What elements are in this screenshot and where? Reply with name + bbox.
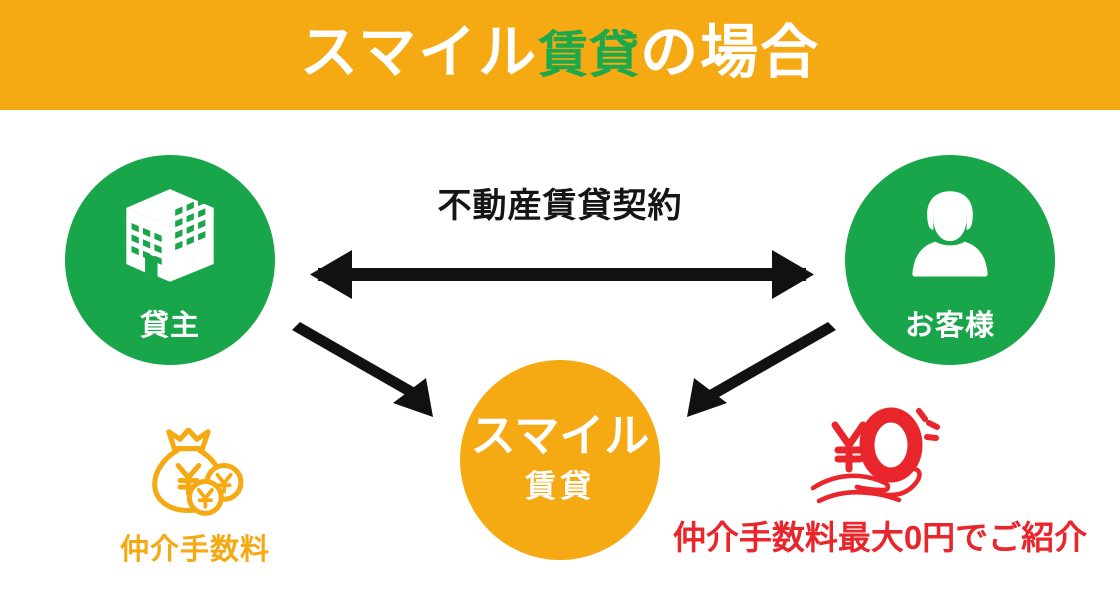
header-title-accent: 賃貸: [538, 27, 640, 83]
yen-symbol-icon: [835, 425, 863, 469]
header-title-lead: スマイル: [300, 20, 538, 85]
coin-icon: [189, 481, 221, 513]
zero-digit: [867, 415, 915, 475]
zero-fee-label: 仲介手数料最大0円でご紹介: [673, 521, 1087, 554]
infographic-canvas: スマイル賃貸の場合 不動産賃貸契約: [0, 0, 1120, 616]
brokerage-fee-block: 仲介手数料: [95, 428, 295, 565]
brand-name-secondary: 賃貸: [525, 471, 595, 502]
person-icon: [898, 185, 1002, 289]
landlord-to-brand-arrow: [292, 322, 433, 417]
contract-label: 不動産賃貸契約: [380, 189, 740, 223]
money-bag-yen-icon: [143, 428, 247, 518]
sparkle-icon: [919, 411, 937, 438]
page-title: スマイル賃貸の場合: [300, 24, 820, 82]
brokerage-fee-label: 仲介手数料: [120, 536, 270, 565]
party-landlord[interactable]: 貸主: [65, 155, 275, 365]
party-customer-label: お客様: [845, 312, 1055, 341]
hand-holding-yen-zero-icon: [809, 405, 951, 513]
party-customer[interactable]: お客様: [845, 155, 1055, 365]
party-landlord-label: 貸主: [65, 312, 275, 341]
zero-fee-block: 仲介手数料最大0円でご紹介: [665, 405, 1095, 554]
header-banner: スマイル賃貸の場合: [0, 0, 1120, 110]
brand-circle[interactable]: スマイル 賃貸: [460, 360, 660, 560]
header-title-tail: の場合: [640, 20, 820, 85]
brand-name-primary: スマイル: [471, 413, 650, 458]
customer-to-brand-arrow: [687, 322, 836, 417]
contract-arrow: [310, 250, 814, 299]
building-icon: [118, 185, 222, 289]
